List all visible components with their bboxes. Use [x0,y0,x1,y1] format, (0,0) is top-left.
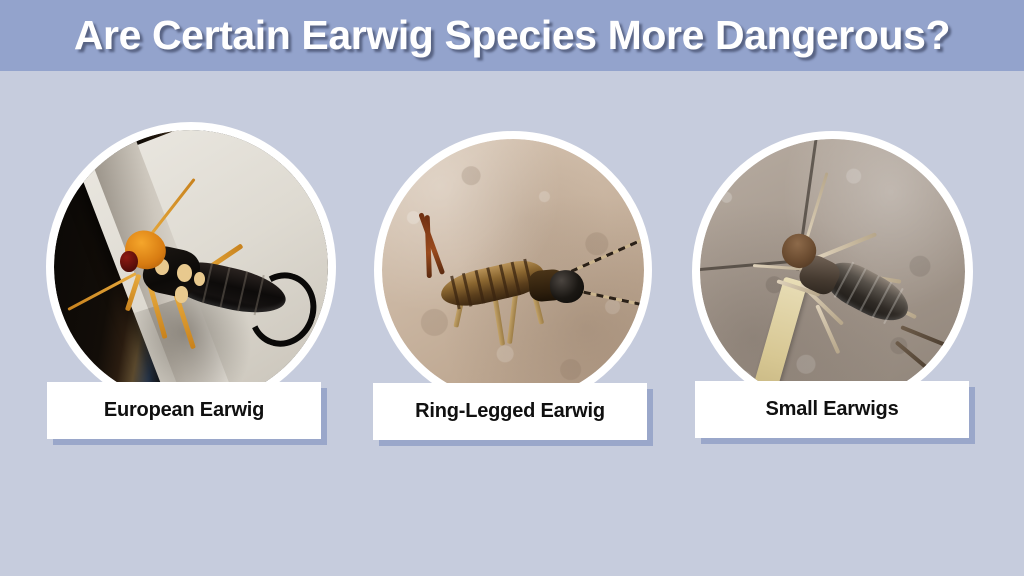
pincer-right [418,212,445,275]
small-earwigs-photo[interactable] [692,131,973,412]
content-stage: European Earwig [0,71,1024,576]
eye [120,251,138,273]
body-marking-4 [194,272,205,286]
card-label-ring-legged-earwig[interactable]: Ring-Legged Earwig [373,383,647,440]
ring-legged-earwig-photo[interactable] [374,131,652,409]
european-earwig-image [54,130,328,404]
card-label-text: Ring-Legged Earwig [415,400,605,423]
small-earwigs-image [700,139,965,404]
card-label-text: European Earwig [104,399,264,422]
card-label-european-earwig[interactable]: European Earwig [47,382,321,439]
ring-legged-earwig-image [382,139,644,401]
european-earwig-photo[interactable] [46,122,336,412]
body-marking-3 [175,286,189,302]
card-label-text: Small Earwigs [765,398,898,421]
card-label-small-earwigs[interactable]: Small Earwigs [695,381,969,438]
page-title: Are Certain Earwig Species More Dangerou… [0,12,1024,59]
